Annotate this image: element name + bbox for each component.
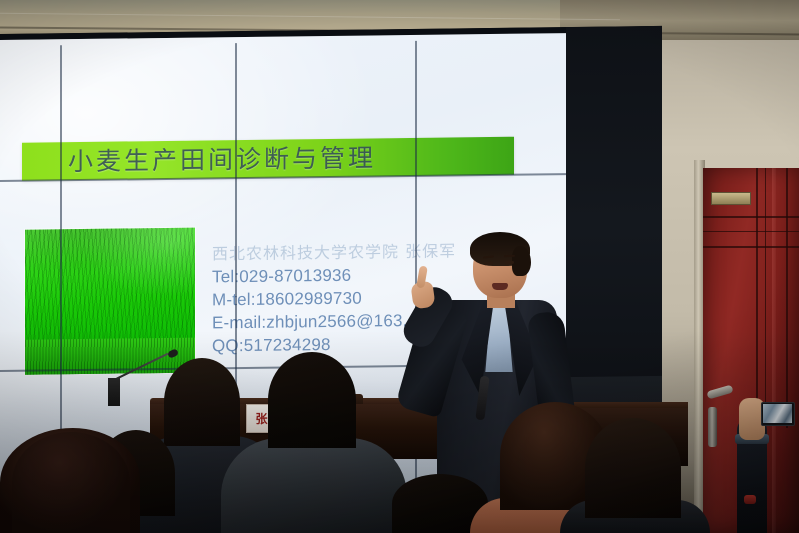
microphone-base [108,378,120,406]
audience-member-head [12,432,130,533]
speaker-eye-right [505,261,514,264]
speaker-eye-left [484,262,493,266]
audience-member-head [268,352,356,448]
speaker-hair-side [512,246,531,276]
phone-holder-sleeve-detail [744,495,756,504]
door-lock-plate[interactable] [708,407,717,447]
door-groove-horizontal [703,231,799,232]
door-groove-horizontal [703,216,799,218]
smartphone[interactable] [761,402,795,426]
door-groove-horizontal [703,246,799,248]
speaker-eyebrow-right [504,255,515,257]
slide-title: 小麦生产田间诊断与管理 [68,140,488,179]
speaker-mouth [492,283,508,290]
audience-member-head [585,418,681,518]
audience-member-head [164,358,240,446]
audience-member-body [221,438,407,533]
lecture-photo-scene: 小麦生产田间诊断与管理 西北农林科技大学农学院 张保军 Tel:029-8701… [0,0,799,533]
door-groove-vertical [786,168,788,428]
door-highlight [772,168,776,533]
door-sign-plate [711,192,751,205]
smartphone-screen [763,404,792,423]
